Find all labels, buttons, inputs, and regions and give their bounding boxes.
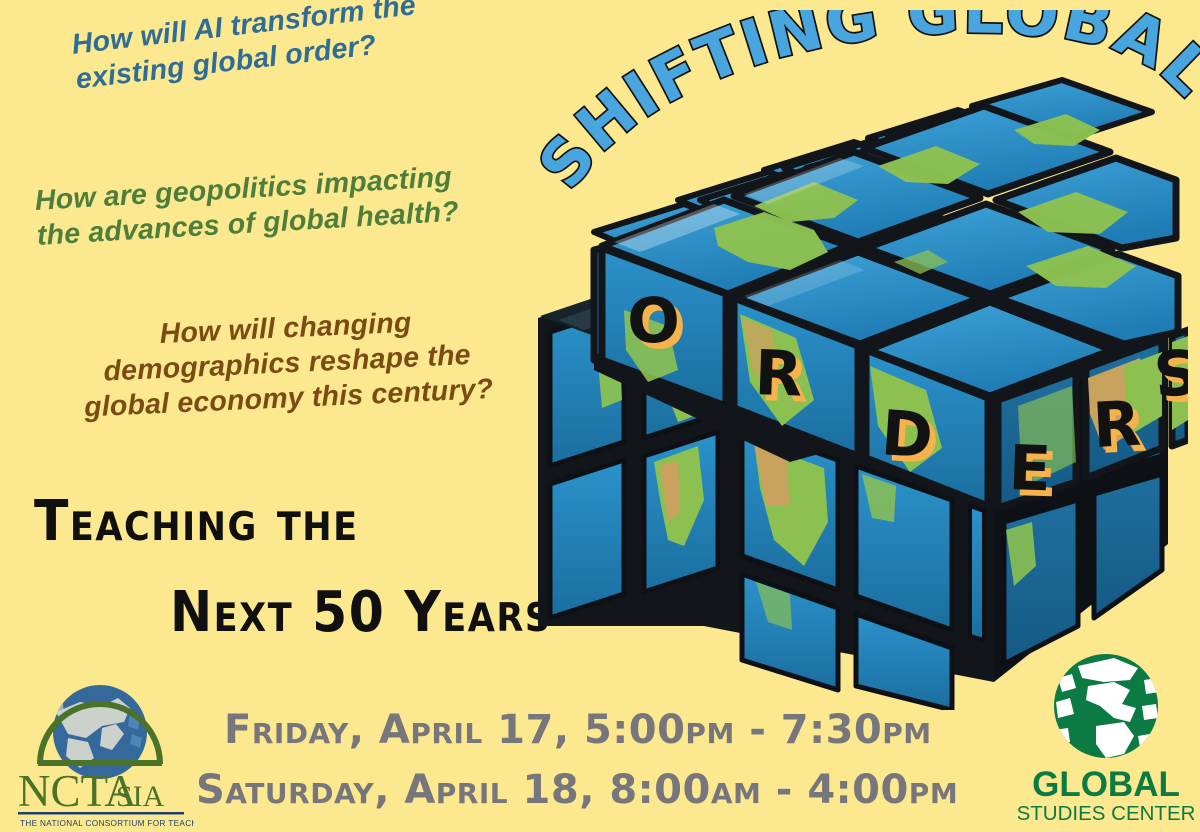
svg-text:E: E bbox=[1007, 431, 1052, 505]
svg-text:R: R bbox=[753, 336, 803, 411]
gsc-line-1: GLOBAL bbox=[1032, 765, 1180, 804]
ncta-tagline: THE NATIONAL CONSORTIUM FOR TEACHING ABO… bbox=[20, 819, 194, 828]
gsc-globe-icon bbox=[1054, 654, 1160, 770]
headline-line-1: Teaching the bbox=[34, 489, 359, 554]
question-demographics: How will changing demographics reshape t… bbox=[50, 301, 524, 427]
headline-line-2: Next 50 Years bbox=[170, 580, 552, 645]
svg-text:S: S bbox=[1151, 335, 1188, 412]
ncta-rule bbox=[18, 812, 184, 815]
ncta-asia-logo: NCTA SIA THE NATIONAL CONSORTIUM FOR TEA… bbox=[6, 672, 194, 830]
question-geopolitics: How are geopolitics impacting the advanc… bbox=[34, 155, 537, 253]
gsc-line-2: STUDIES CENTER bbox=[1018, 802, 1194, 825]
question-ai: How will AI transform the existing globa… bbox=[70, 0, 515, 97]
earth-rubiks-cube: O O R R D D E E R R S S bbox=[528, 70, 1188, 710]
svg-text:D: D bbox=[879, 396, 935, 472]
global-studies-center-logo: GLOBAL STUDIES CENTER bbox=[1018, 648, 1194, 826]
poster-canvas: How will AI transform the existing globa… bbox=[0, 0, 1200, 832]
ncta-wordmark-small: SIA bbox=[116, 780, 165, 813]
svg-text:O: O bbox=[626, 283, 681, 358]
ncta-globe-icon bbox=[38, 685, 162, 779]
svg-text:R: R bbox=[1091, 387, 1143, 462]
date-line-saturday: Saturday, April 18, 8:00am - 4:00pm bbox=[196, 767, 958, 813]
date-line-friday: Friday, April 17, 5:00pm - 7:30pm bbox=[224, 707, 932, 753]
